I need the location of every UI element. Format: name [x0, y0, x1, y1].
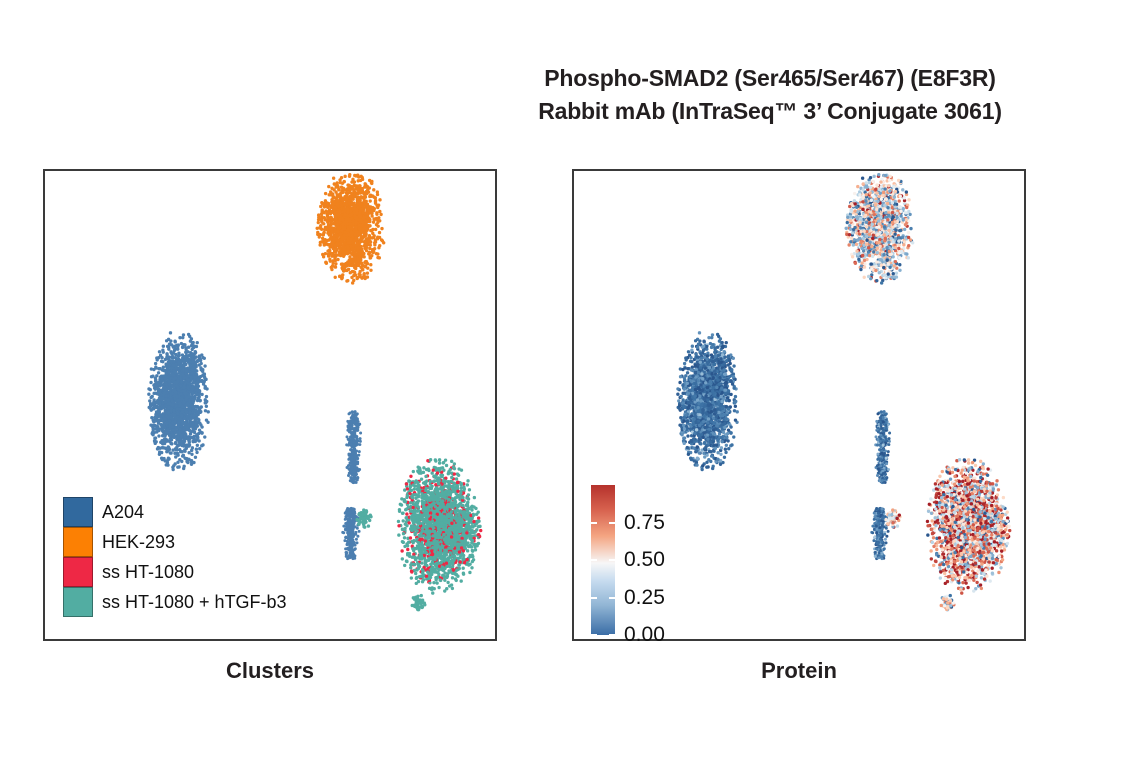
legend-item-a204[interactable]: A204: [63, 497, 287, 527]
protein-colorbar[interactable]: 0.750.500.250.00: [591, 485, 721, 645]
legend-swatch-ss-ht1080-tgfb3: [63, 587, 93, 617]
panel-protein: 0.750.500.250.00: [572, 169, 1026, 641]
colorbar-ticklabel: 0.00: [624, 624, 665, 645]
legend-item-hek293[interactable]: HEK-293: [63, 527, 287, 557]
colorbar-ticklabel: 0.25: [624, 587, 665, 608]
colorbar-ticklabel: 0.50: [624, 549, 665, 570]
legend-label-hek293: HEK-293: [102, 533, 175, 551]
legend-label-ss-ht1080-tgfb3: ss HT-1080 + hTGF-b3: [102, 593, 287, 611]
legend-swatch-hek293: [63, 527, 93, 557]
colorbar-tickmark: [591, 559, 597, 561]
colorbar-ticklabel: 0.75: [624, 512, 665, 533]
figure-title: Phospho-SMAD2 (Ser465/Ser467) (E8F3R) Ra…: [420, 62, 1120, 128]
legend-item-ss-ht1080-tgfb3[interactable]: ss HT-1080 + hTGF-b3: [63, 587, 287, 617]
figure-title-line-2: Rabbit mAb (InTraSeq™ 3’ Conjugate 3061): [420, 95, 1120, 128]
cluster-legend: A204 HEK-293 ss HT-1080 ss HT-1080 + hTG…: [63, 497, 287, 617]
legend-label-a204: A204: [102, 503, 144, 521]
panel-clusters: A204 HEK-293 ss HT-1080 ss HT-1080 + hTG…: [43, 169, 497, 641]
legend-label-ss-ht1080: ss HT-1080: [102, 563, 194, 581]
figure-title-line-1: Phospho-SMAD2 (Ser465/Ser467) (E8F3R): [420, 62, 1120, 95]
colorbar-tickmark: [591, 522, 597, 524]
figure-root: Phospho-SMAD2 (Ser465/Ser467) (E8F3R) Ra…: [0, 0, 1141, 768]
colorbar-tickmark: [609, 597, 615, 599]
legend-swatch-a204: [63, 497, 93, 527]
colorbar-tickmark: [609, 522, 615, 524]
caption-clusters: Clusters: [43, 658, 497, 684]
legend-item-ss-ht1080[interactable]: ss HT-1080: [63, 557, 287, 587]
colorbar-tickmark: [609, 634, 615, 636]
colorbar-tickmark: [591, 597, 597, 599]
caption-protein: Protein: [572, 658, 1026, 684]
colorbar-tickmark: [609, 559, 615, 561]
legend-swatch-ss-ht1080: [63, 557, 93, 587]
colorbar-tickmark: [591, 634, 597, 636]
